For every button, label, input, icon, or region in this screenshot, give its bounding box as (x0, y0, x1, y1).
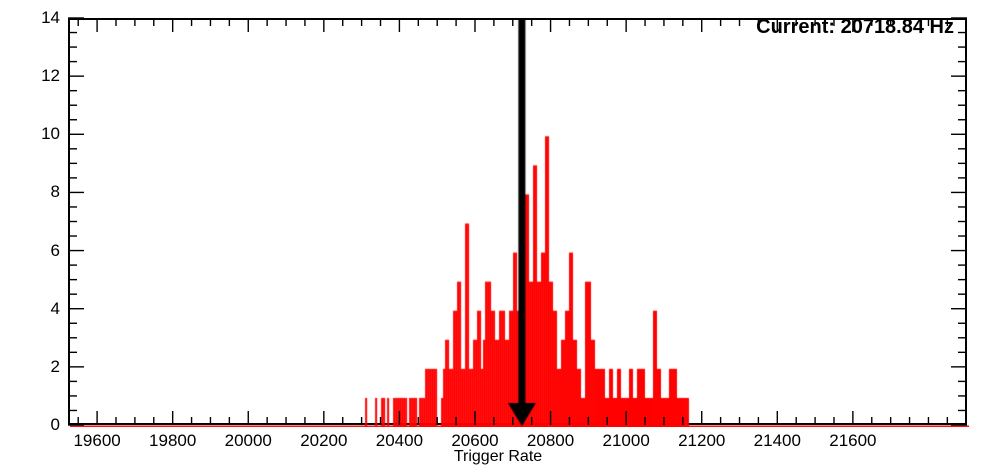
x-axis-title: Trigger Rate (0, 448, 996, 466)
axes-overlay (0, 0, 996, 472)
y-tick-label: 2 (20, 357, 60, 377)
y-tick-label: 10 (20, 124, 60, 144)
y-tick-label: 14 (20, 8, 60, 28)
y-tick-label: 6 (20, 241, 60, 261)
root-container: 1960019800200002020020400206002080021000… (0, 0, 996, 472)
y-tick-label: 0 (20, 415, 60, 435)
y-tick-label: 8 (20, 182, 60, 202)
current-rate-label: Current: 20718.84 Hz (756, 16, 954, 39)
y-tick-label: 12 (20, 66, 60, 86)
y-tick-label: 4 (20, 299, 60, 319)
